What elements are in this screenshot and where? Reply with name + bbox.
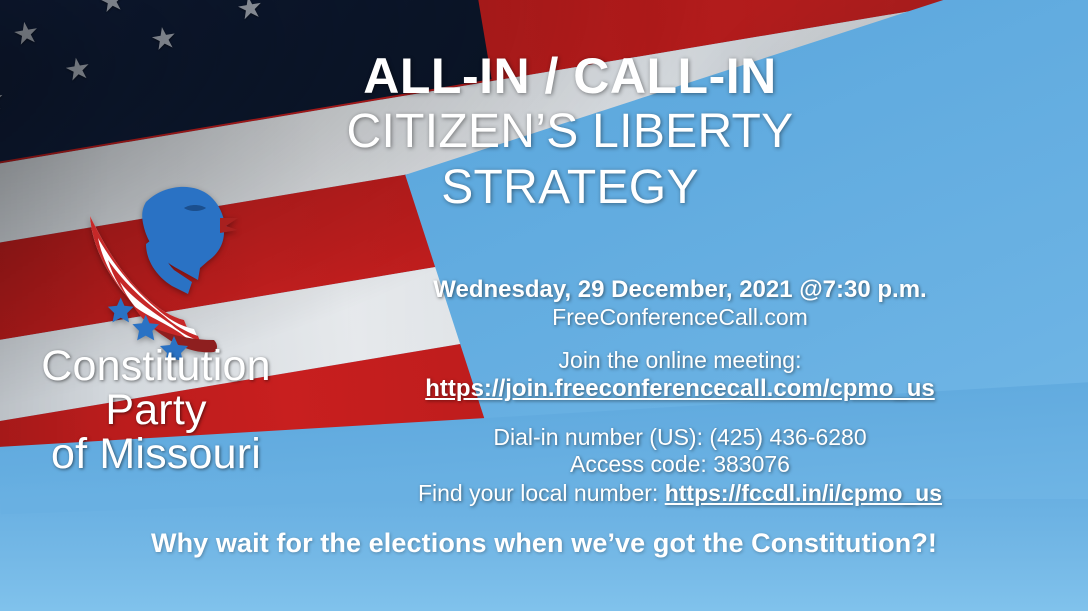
join-meeting-link[interactable]: https://join.freeconferencecall.com/cpmo… (425, 375, 934, 404)
access-code: Access code: 383076 (330, 451, 1030, 479)
tagline: Why wait for the elections when we’ve go… (0, 528, 1088, 559)
local-number-link[interactable]: https://fccdl.in/i/cpmo_us (665, 480, 942, 506)
dial-in-number: Dial-in number (US): (425) 436-6280 (330, 424, 1030, 452)
event-date-time: Wednesday, 29 December, 2021 @7:30 p.m. (330, 276, 1030, 304)
platform-name: FreeConferenceCall.com (330, 304, 1030, 331)
meeting-details-block: Wednesday, 29 December, 2021 @7:30 p.m. … (330, 276, 1030, 507)
headline-line-3: STRATEGY (240, 160, 900, 216)
headline-block: ALL-IN / CALL-IN CITIZEN’S LIBERTY STRAT… (240, 48, 900, 215)
flyer-poster: ★ ★ ★ ★ ★ ★ ★ ★ ★ ★ ★ ★ ★ ★ ★ ★ ★ (0, 0, 1088, 611)
eagle-shield-icon (68, 160, 268, 360)
join-meeting-label: Join the online meeting: (330, 347, 1030, 375)
logo-wordmark: Constitution Party of Missouri (6, 345, 306, 477)
headline-line-1: ALL-IN / CALL-IN (240, 48, 900, 104)
logo-line-2: Party (6, 389, 306, 433)
local-number-row: Find your local number: https://fccdl.in… (330, 479, 1030, 507)
headline-line-2: CITIZEN’S LIBERTY (240, 104, 900, 160)
local-number-label: Find your local number: (418, 480, 665, 506)
logo-line-1: Constitution (6, 345, 306, 389)
logo-line-3: of Missouri (6, 433, 306, 477)
